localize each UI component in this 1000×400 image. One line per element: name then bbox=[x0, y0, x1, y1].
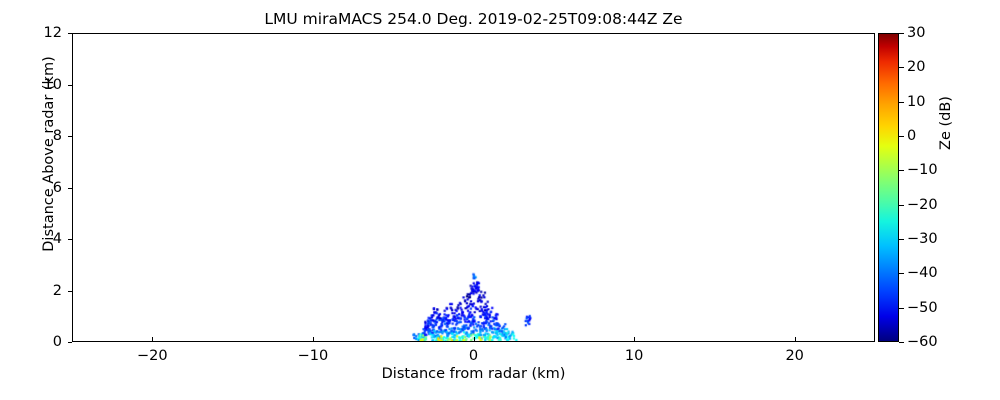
y-tick-mark bbox=[68, 85, 72, 86]
y-tick-mark bbox=[68, 342, 72, 343]
x-tick-mark bbox=[313, 337, 314, 342]
plot-axes bbox=[72, 33, 875, 342]
y-tick-mark bbox=[68, 291, 72, 292]
colorbar-tick-label: −10 bbox=[907, 162, 938, 178]
colorbar-tick-label: −30 bbox=[907, 231, 938, 247]
x-tick-label: 10 bbox=[625, 348, 643, 364]
colorbar-tick-mark bbox=[899, 205, 904, 206]
x-tick-mark bbox=[634, 337, 635, 342]
colorbar-tick-mark bbox=[899, 136, 904, 137]
scatter-data-layer bbox=[73, 34, 874, 341]
colorbar-tick-mark bbox=[899, 342, 904, 343]
x-tick-mark bbox=[152, 337, 153, 342]
colorbar-tick-label: −50 bbox=[907, 300, 938, 316]
x-axis-label: Distance from radar (km) bbox=[72, 366, 875, 382]
colorbar-tick-label: 10 bbox=[907, 94, 925, 110]
y-tick-mark bbox=[68, 239, 72, 240]
colorbar-tick-mark bbox=[899, 308, 904, 309]
colorbar-tick-mark bbox=[899, 67, 904, 68]
x-tick-label: −10 bbox=[298, 348, 329, 364]
x-tick-mark bbox=[474, 337, 475, 342]
colorbar-tick-label: 30 bbox=[907, 25, 925, 41]
colorbar-gradient bbox=[878, 33, 899, 342]
colorbar-tick-mark bbox=[899, 102, 904, 103]
colorbar-tick-mark bbox=[899, 33, 904, 34]
y-tick-mark bbox=[68, 33, 72, 34]
colorbar-tick-mark bbox=[899, 273, 904, 274]
colorbar-tick-label: 0 bbox=[907, 128, 916, 144]
x-tick-label: 20 bbox=[785, 348, 803, 364]
figure-canvas: LMU miraMACS 254.0 Deg. 2019-02-25T09:08… bbox=[0, 0, 1000, 400]
y-axis-label: Distance Above radar (km) bbox=[41, 0, 57, 344]
colorbar-tick-label: −20 bbox=[907, 197, 938, 213]
x-tick-label: 0 bbox=[469, 348, 478, 364]
colorbar-tick-label: −60 bbox=[907, 334, 938, 350]
x-tick-label: −20 bbox=[137, 348, 168, 364]
y-tick-mark bbox=[68, 188, 72, 189]
colorbar-label: Ze (dB) bbox=[938, 48, 954, 198]
colorbar-tick-label: −40 bbox=[907, 265, 938, 281]
chart-title: LMU miraMACS 254.0 Deg. 2019-02-25T09:08… bbox=[72, 10, 875, 28]
x-tick-mark bbox=[795, 337, 796, 342]
colorbar-tick-mark bbox=[899, 239, 904, 240]
colorbar-tick-mark bbox=[899, 170, 904, 171]
colorbar-tick-label: 20 bbox=[907, 59, 925, 75]
y-tick-mark bbox=[68, 136, 72, 137]
